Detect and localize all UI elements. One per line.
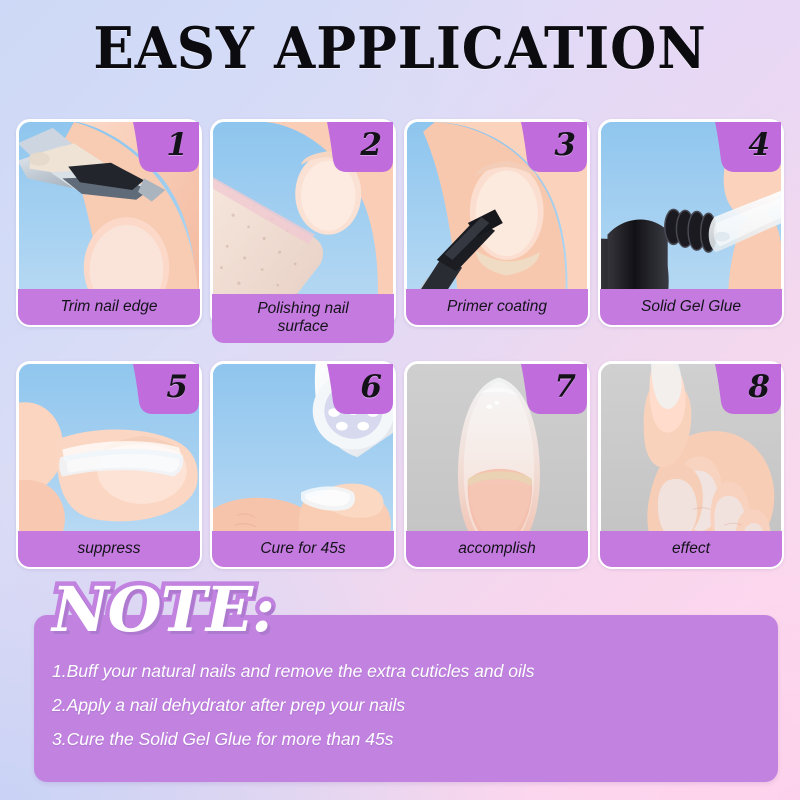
step-card-8[interactable]: 8 effect bbox=[598, 361, 784, 569]
step-caption-4: Solid Gel Glue bbox=[600, 289, 782, 325]
note-line-3: 3.Cure the Solid Gel Glue for more than … bbox=[52, 722, 776, 756]
step-card-1[interactable]: 1 Trim nail edge bbox=[16, 119, 202, 327]
step-caption-5: suppress bbox=[18, 531, 200, 567]
step-card-3[interactable]: 3 Primer coating bbox=[404, 119, 590, 327]
step-caption-7: accomplish bbox=[406, 531, 588, 567]
note-heading: NOTE: bbox=[52, 578, 274, 642]
step-card-2[interactable]: 2 Polishing nail surface bbox=[210, 119, 396, 327]
step-card-5[interactable]: 5 suppress bbox=[16, 361, 202, 569]
note-line-1: 1.Buff your natural nails and remove the… bbox=[52, 654, 776, 688]
note-list: 1.Buff your natural nails and remove the… bbox=[52, 654, 776, 756]
step-caption-2-text: Polishing nail surface bbox=[257, 300, 348, 336]
poster-canvas: EASY APPLICATION bbox=[0, 0, 800, 800]
step-caption-6: Cure for 45s bbox=[212, 531, 394, 567]
step-caption-8: effect bbox=[600, 531, 782, 567]
steps-row-1: 1 Trim nail edge bbox=[16, 119, 784, 327]
step-card-7[interactable]: 7 accomplish bbox=[404, 361, 590, 569]
step-caption-1: Trim nail edge bbox=[18, 289, 200, 325]
step-caption-3: Primer coating bbox=[406, 289, 588, 325]
step-caption-2: Polishing nail surface bbox=[212, 294, 394, 343]
steps-row-2: 5 suppress bbox=[16, 361, 784, 569]
step-card-4[interactable]: 4 Solid Gel Glue bbox=[598, 119, 784, 327]
steps-grid: 1 Trim nail edge bbox=[16, 119, 784, 569]
page-title: EASY APPLICATION bbox=[28, 18, 772, 80]
step-card-6[interactable]: 6 Cure for 45s bbox=[210, 361, 396, 569]
note-line-2: 2.Apply a nail dehydrator after prep you… bbox=[52, 688, 776, 722]
